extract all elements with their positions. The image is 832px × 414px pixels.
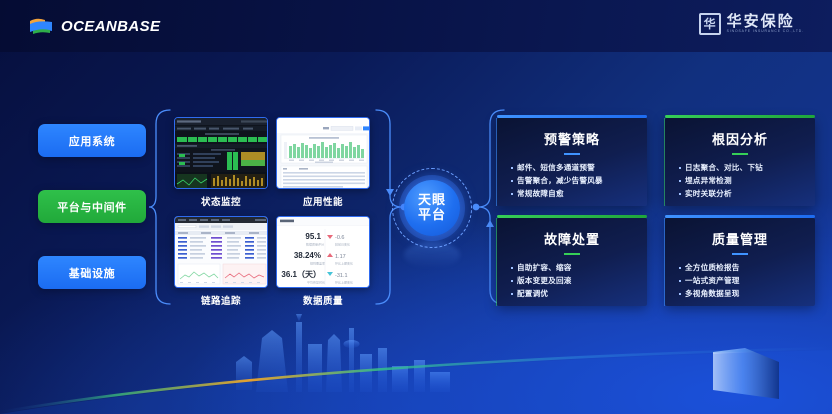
svg-text:-31.1: -31.1 (335, 273, 348, 279)
bullet-dot-icon (679, 193, 681, 195)
skyline-decoration (0, 304, 832, 414)
svg-text:环比上期变化: 环比上期变化 (335, 280, 353, 285)
card-edge (664, 218, 665, 306)
partner-name-cn: 华安保险 (727, 14, 804, 29)
svg-text:平均修复时长: 平均修复时长 (307, 280, 325, 285)
bullet-dot-icon (511, 280, 513, 282)
bullet-item: 邮件、短信多通道预警 (511, 162, 647, 173)
oceanbase-flag-icon (28, 17, 54, 35)
card-bullet-list: 全方位质检报告 一站式资产管理 多视角数据呈现 (679, 262, 815, 299)
svg-text:规则覆盖率: 规则覆盖率 (310, 261, 325, 266)
bullet-text: 多视角数据呈现 (685, 288, 740, 299)
card-accent-bar (497, 215, 647, 219)
card-accent-bar (665, 115, 815, 119)
trace-list-graphic (175, 217, 268, 288)
bullet-text: 全方位质检报告 (685, 262, 740, 273)
bullet-dot-icon (511, 167, 513, 169)
thumb-caption-trace: 链路追踪 (174, 293, 268, 307)
card-divider (564, 153, 580, 155)
bullet-text: 配置调优 (517, 288, 548, 299)
thumb-cell-trace: 链路追踪 (174, 216, 268, 307)
svg-text:较前日变化: 较前日变化 (335, 242, 350, 247)
bullet-dot-icon (679, 180, 681, 182)
center-node-orb[interactable]: 天眼 平台 (404, 180, 460, 236)
bullet-dot-icon (511, 293, 513, 295)
svg-text:38.24%: 38.24% (294, 251, 321, 260)
svg-text:1.17: 1.17 (335, 254, 346, 260)
left-brace-connector (148, 108, 176, 306)
bullet-item: 常规故障自愈 (511, 188, 647, 199)
svg-text:36.1（天）: 36.1（天） (281, 269, 321, 279)
card-title: 质量管理 (665, 218, 815, 248)
card-edge (496, 118, 497, 206)
bullet-dot-icon (511, 267, 513, 269)
bullet-item: 实时关联分析 (679, 188, 815, 199)
thumb-caption-status-monitor: 状态监控 (174, 194, 268, 208)
card-bullet-list: 日志聚合、对比、下钻 埋点异常检测 实时关联分析 (679, 162, 815, 199)
card-divider (732, 253, 748, 255)
card-root-cause-analysis[interactable]: 根因分析 日志聚合、对比、下钻 埋点异常检测 实时关联分析 (665, 118, 815, 206)
card-title: 根因分析 (665, 118, 815, 148)
thumb-caption-app-performance: 应用性能 (276, 194, 370, 208)
svg-text:-0.6: -0.6 (335, 235, 344, 241)
card-fault-handling[interactable]: 故障处置 自助扩容、缩容 版本变更及回滚 配置调优 (497, 218, 647, 306)
capability-cards: 预警策略 邮件、短信多通道预警 告警聚合，减少告警风暴 常规故障自愈 根因分析 … (497, 118, 815, 306)
oceanbase-wordmark: OCEANBASE (61, 18, 160, 35)
bullet-dot-icon (511, 180, 513, 182)
thumb-cell-data-quality: 95.1 数据质量评分 -0.6 较前日变化 38.24% 规则覆盖率 1.17… (276, 216, 370, 307)
huaan-mark-icon: 华 (699, 13, 721, 35)
data-quality-metrics-graphic: 95.1 数据质量评分 -0.6 较前日变化 38.24% 规则覆盖率 1.17… (277, 217, 370, 288)
card-accent-bar (497, 115, 647, 119)
card-edge (496, 218, 497, 306)
layer-pill-middleware[interactable]: 平台与中间件 (38, 190, 146, 223)
card-bullet-list: 自助扩容、缩容 版本变更及回滚 配置调优 (511, 262, 647, 299)
bullet-item: 版本变更及回滚 (511, 275, 647, 286)
center-node-line1: 天眼 (418, 193, 446, 208)
layer-pill-application[interactable]: 应用系统 (38, 124, 146, 157)
card-divider (732, 153, 748, 155)
thumb-caption-data-quality: 数据质量 (276, 293, 370, 307)
app-performance-screenshot[interactable] (276, 117, 370, 189)
partner-logo: 华 华安保险 SINOSAFE INSURANCE CO.,LTD. (699, 13, 804, 35)
bullet-item: 日志聚合、对比、下钻 (679, 162, 815, 173)
svg-text:数据质量评分: 数据质量评分 (306, 242, 324, 247)
card-bullet-list: 邮件、短信多通道预警 告警聚合，减少告警风暴 常规故障自愈 (511, 162, 647, 199)
bullet-item: 告警聚合，减少告警风暴 (511, 175, 647, 186)
bullet-item: 多视角数据呈现 (679, 288, 815, 299)
bullet-text: 实时关联分析 (685, 188, 732, 199)
bullet-dot-icon (679, 293, 681, 295)
capability-screenshots: 状态监控 (174, 117, 370, 307)
data-quality-screenshot[interactable]: 95.1 数据质量评分 -0.6 较前日变化 38.24% 规则覆盖率 1.17… (276, 216, 370, 288)
layer-pill-infrastructure[interactable]: 基础设施 (38, 256, 146, 289)
bullet-text: 埋点异常检测 (685, 175, 732, 186)
bullet-text: 常规故障自愈 (517, 188, 564, 199)
card-title: 故障处置 (497, 218, 647, 248)
bullet-item: 一站式资产管理 (679, 275, 815, 286)
card-title: 预警策略 (497, 118, 647, 148)
svg-text:95.1: 95.1 (305, 232, 321, 241)
center-node-line2: 平台 (418, 208, 446, 223)
bullet-item: 全方位质检报告 (679, 262, 815, 273)
card-edge (664, 118, 665, 206)
bullet-text: 日志聚合、对比、下钻 (685, 162, 763, 173)
center-node[interactable]: 天眼 平台 (404, 180, 460, 236)
card-accent-bar (665, 215, 815, 219)
bullet-dot-icon (679, 267, 681, 269)
card-quality-management[interactable]: 质量管理 全方位质检报告 一站式资产管理 多视角数据呈现 (665, 218, 815, 306)
bullet-dot-icon (679, 167, 681, 169)
bullet-text: 一站式资产管理 (685, 275, 740, 286)
partner-name-en: SINOSAFE INSURANCE CO.,LTD. (727, 30, 804, 33)
bullet-item: 配置调优 (511, 288, 647, 299)
oceanbase-logo: OCEANBASE (28, 17, 160, 35)
bullet-text: 自助扩容、缩容 (517, 262, 572, 273)
bullet-text: 版本变更及回滚 (517, 275, 572, 286)
svg-text:环比上期变化: 环比上期变化 (335, 261, 353, 266)
monitoring-dashboard-graphic (175, 118, 268, 189)
bullet-dot-icon (511, 193, 513, 195)
bullet-text: 告警聚合，减少告警风暴 (517, 175, 603, 186)
page-header: OCEANBASE 华 华安保险 SINOSAFE INSURANCE CO.,… (0, 0, 832, 52)
thumb-cell-app-performance: 应用性能 (276, 117, 370, 208)
bullet-item: 自助扩容、缩容 (511, 262, 647, 273)
card-alert-strategy[interactable]: 预警策略 邮件、短信多通道预警 告警聚合，减少告警风暴 常规故障自愈 (497, 118, 647, 206)
status-monitor-screenshot[interactable] (174, 117, 268, 189)
bullet-text: 邮件、短信多通道预警 (517, 162, 595, 173)
apm-bar-chart-graphic (277, 118, 370, 189)
trace-screenshot[interactable] (174, 216, 268, 288)
thumb-cell-status-monitor: 状态监控 (174, 117, 268, 208)
layer-stack: 应用系统 平台与中间件 基础设施 (38, 124, 146, 289)
card-divider (564, 253, 580, 255)
bullet-dot-icon (679, 280, 681, 282)
bullet-item: 埋点异常检测 (679, 175, 815, 186)
